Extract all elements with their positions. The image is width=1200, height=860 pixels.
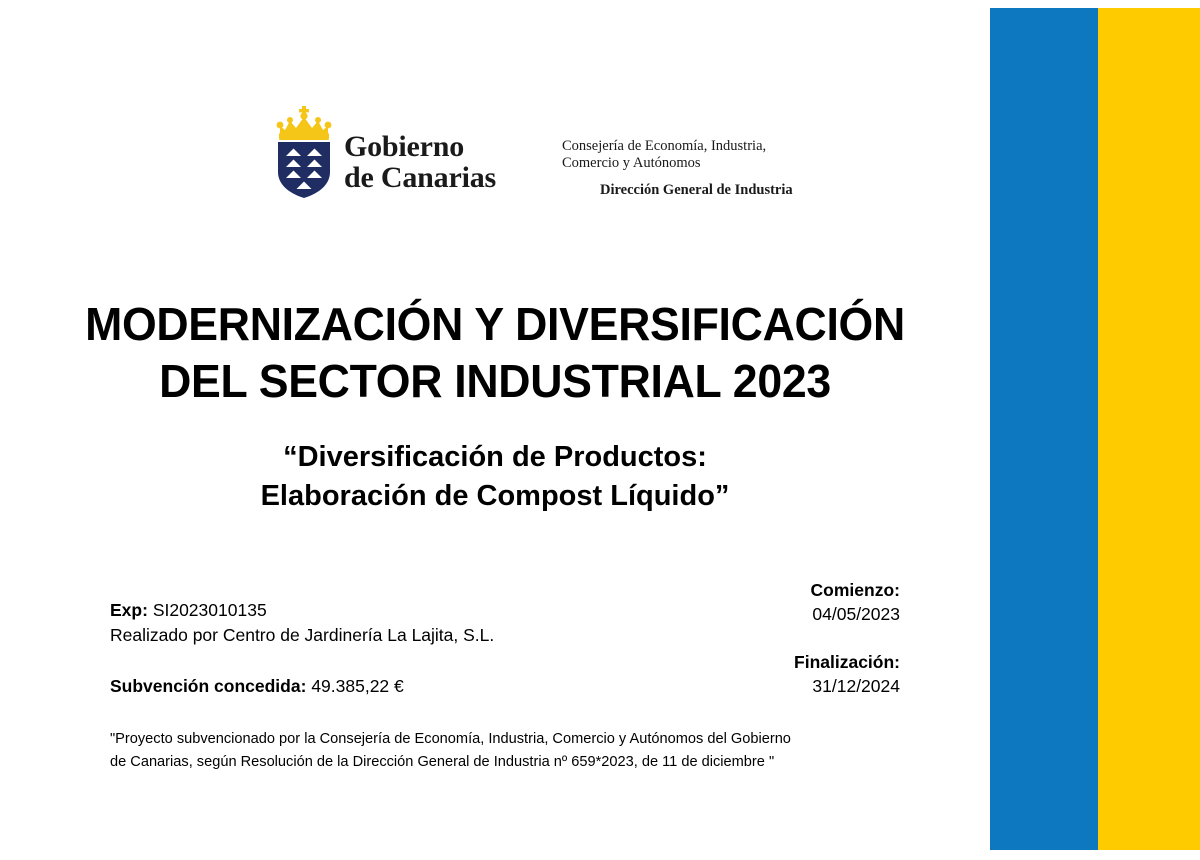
project-details-left: Exp: SI2023010135 Realizado por Centro d… [110, 578, 494, 699]
decorative-bar-blue [990, 8, 1098, 850]
project-details-right: Comienzo: 04/05/2023 Finalización: 31/12… [794, 578, 900, 699]
page-subtitle: “Diversificación de Productos: Elaboraci… [0, 438, 990, 515]
subvencion-label: Subvención concedida: [110, 676, 306, 696]
realizado-por-row: Realizado por Centro de Jardinería La La… [110, 623, 494, 648]
consejeria-name: Consejería de Economía, Industria, Comer… [562, 138, 793, 172]
expediente-row: Exp: SI2023010135 [110, 598, 494, 623]
decorative-bar-yellow [1098, 8, 1200, 850]
gobierno-de-canarias-wordmark: Gobierno de Canarias [344, 132, 496, 194]
comienzo-label: Comienzo: [794, 578, 900, 602]
canary-islands-coat-of-arms-icon [272, 104, 336, 200]
finalizacion-value: 31/12/2024 [794, 674, 900, 698]
institutional-header: Gobierno de Canarias Consejería de Econo… [272, 104, 793, 200]
page-title: MODERNIZACIÓN Y DIVERSIFICACIÓN DEL SECT… [15, 296, 975, 409]
funding-disclaimer: "Proyecto subvencionado por la Consejerí… [110, 728, 900, 773]
direccion-general-name: Dirección General de Industria [600, 182, 793, 199]
comienzo-group: Comienzo: 04/05/2023 [794, 578, 900, 626]
expediente-value: SI2023010135 [153, 600, 267, 620]
subvencion-value: 49.385,22 € [311, 676, 403, 696]
subvencion-row: Subvención concedida: 49.385,22 € [110, 674, 494, 699]
expediente-label: Exp: [110, 600, 148, 620]
poster-sheet: Gobierno de Canarias Consejería de Econo… [0, 0, 990, 860]
project-details: Exp: SI2023010135 Realizado por Centro d… [110, 578, 900, 699]
finalizacion-label: Finalización: [794, 650, 900, 674]
comienzo-value: 04/05/2023 [794, 602, 900, 626]
finalizacion-group: Finalización: 31/12/2024 [794, 650, 900, 698]
consejeria-block: Consejería de Economía, Industria, Comer… [562, 138, 793, 199]
